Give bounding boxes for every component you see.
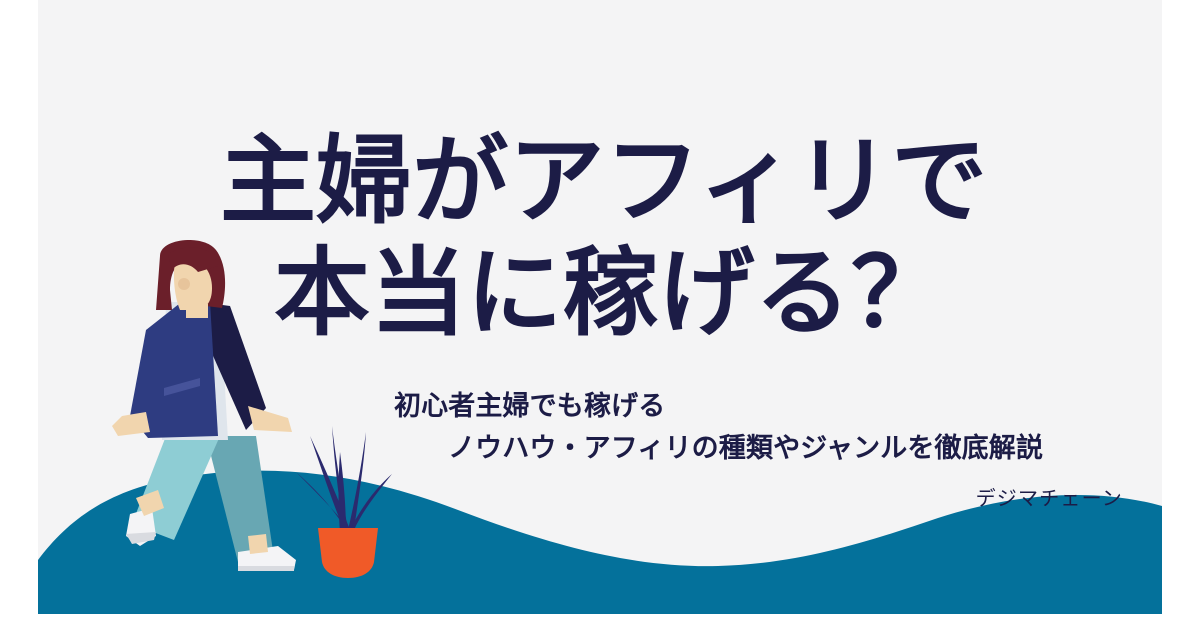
brand-attribution: デジマチェーン bbox=[38, 482, 1123, 511]
banner-canvas: 主婦がアフィリで 本当に稼げる？ 初心者主婦でも稼げる ノウハウ・アフィリの種類… bbox=[0, 0, 1200, 630]
subtitle-line-2: ノウハウ・アフィリの種類やジャンルを徹底解説 bbox=[356, 428, 1146, 470]
shoe-back-sole bbox=[238, 566, 294, 571]
neck bbox=[186, 304, 208, 318]
plant-pot bbox=[318, 528, 378, 578]
ankle-back bbox=[248, 534, 268, 554]
page-title: 主婦がアフィリで 本当に稼げる？ bbox=[220, 126, 1120, 350]
banner-card: 主婦がアフィリで 本当に稼げる？ 初心者主婦でも稼げる ノウハウ・アフィリの種類… bbox=[38, 0, 1162, 614]
subtitle: 初心者主婦でも稼げる ノウハウ・アフィリの種類やジャンルを徹底解説 bbox=[356, 386, 1146, 470]
ear bbox=[178, 278, 190, 290]
hand-back bbox=[248, 406, 292, 432]
title-line-2: 本当に稼げる？ bbox=[220, 238, 1120, 350]
subtitle-line-1: 初心者主婦でも稼げる bbox=[356, 386, 1146, 428]
shoe-front-sole bbox=[126, 532, 156, 544]
hand-front bbox=[112, 412, 150, 436]
title-line-1: 主婦がアフィリで bbox=[220, 126, 1120, 238]
